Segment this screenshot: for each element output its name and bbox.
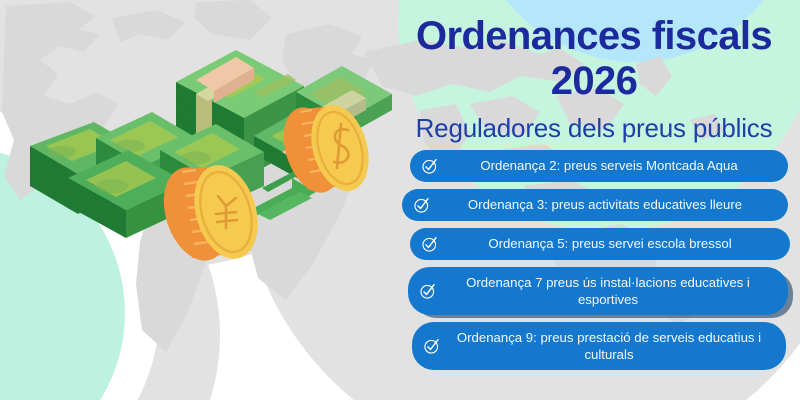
- check-circle-icon: [412, 195, 432, 215]
- ordinance-list: Ordenança 2: preus serveis Montcada Aqua…: [388, 150, 800, 377]
- list-item-label: Ordenança 5: preus servei escola bressol: [446, 236, 778, 252]
- page-title: Ordenances fiscals 2026: [388, 14, 800, 104]
- title-line-1: Ordenances fiscals: [388, 14, 800, 59]
- list-item-label: Ordenança 9: preus prestació de serveis …: [448, 329, 774, 363]
- check-circle-icon: [418, 281, 438, 301]
- check-circle-icon: [420, 156, 440, 176]
- page-subtitle: Reguladores dels preus públics: [388, 113, 800, 143]
- check-circle-icon: [422, 336, 442, 356]
- poster-canvas: Ordenances fiscals 2026 Reguladores dels…: [0, 0, 800, 400]
- content-column: Ordenances fiscals 2026 Reguladores dels…: [388, 0, 800, 400]
- list-item-label: Ordenança 3: preus activitats educatives…: [438, 197, 776, 213]
- list-item-label: Ordenança 7 preus ús instal·lacions educ…: [444, 274, 776, 308]
- list-item-ordenanca-9[interactable]: Ordenança 9: preus prestació de serveis …: [412, 322, 786, 370]
- title-line-2: 2026: [388, 59, 800, 104]
- list-item-label: Ordenança 2: preus serveis Montcada Aqua: [446, 158, 776, 174]
- list-item-ordenanca-7[interactable]: Ordenança 7 preus ús instal·lacions educ…: [408, 267, 788, 315]
- list-item-ordenanca-3[interactable]: Ordenança 3: preus activitats educatives…: [402, 189, 788, 221]
- list-item-ordenanca-5[interactable]: Ordenança 5: preus servei escola bressol: [410, 228, 790, 260]
- check-circle-icon: [420, 234, 440, 254]
- list-item-ordenanca-2[interactable]: Ordenança 2: preus serveis Montcada Aqua: [410, 150, 788, 182]
